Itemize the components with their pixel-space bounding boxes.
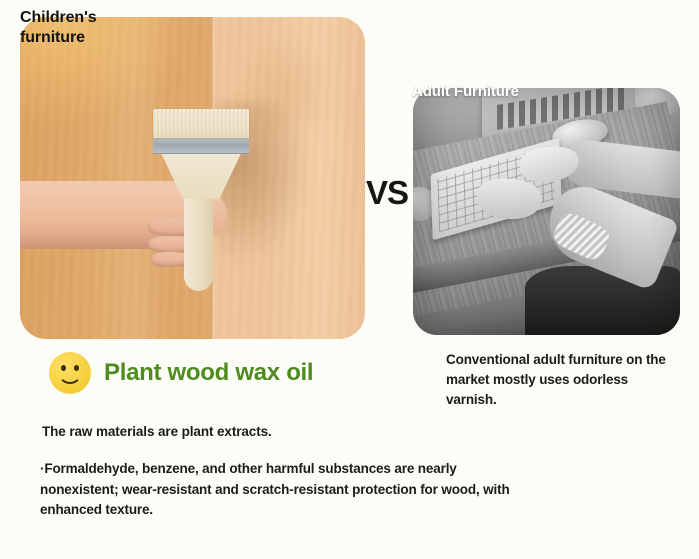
paintbrush-ferrule (153, 136, 250, 154)
photo-vignette (413, 88, 680, 335)
childrens-furniture-label-line-1: Children's (20, 8, 97, 28)
raw-materials-paragraph: The raw materials are plant extracts. (42, 424, 272, 439)
bristle-texture (153, 109, 250, 138)
plant-wood-wax-oil-headline: Plant wood wax oil (49, 352, 313, 394)
adult-furniture-description: Conventional adult furniture on the mark… (446, 350, 678, 410)
childrens-furniture-label-line-2: furniture (20, 28, 97, 48)
paintbrush-handle (184, 194, 213, 291)
headline-text: Plant wood wax oil (104, 359, 313, 387)
adult-furniture-photo (413, 88, 680, 335)
adult-furniture-label: Adult Furniture (412, 83, 519, 100)
paintbrush-bristles (153, 109, 250, 138)
childrens-furniture-photo (20, 17, 365, 339)
childrens-furniture-label: Children's furniture (20, 8, 97, 47)
safety-benefits-paragraph: ·Formaldehyde, benzene, and other harmfu… (40, 459, 510, 521)
smiley-mouth (58, 370, 82, 384)
smiley-face-icon (49, 352, 91, 394)
vs-separator: VS (366, 174, 408, 212)
